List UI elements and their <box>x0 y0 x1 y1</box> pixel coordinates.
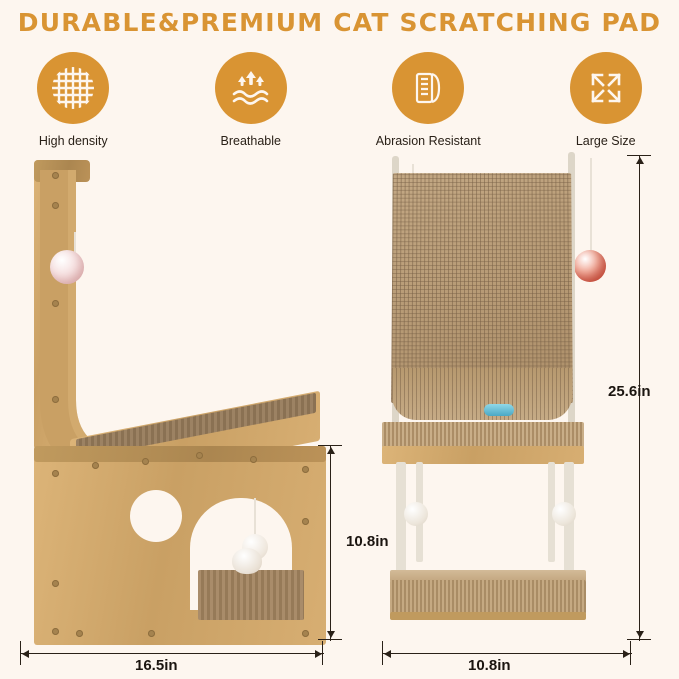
left-width-dimension-line <box>20 653 324 654</box>
right-pompom-left <box>404 502 428 526</box>
right-height-arrow-up <box>636 157 644 164</box>
large-size-arrows-icon <box>570 52 642 124</box>
left-round-entry-hole <box>130 490 182 542</box>
left-interior-floor-pad <box>198 570 304 620</box>
right-height-label: 25.6in <box>608 383 651 400</box>
screw <box>302 518 309 525</box>
left-toy-ball <box>50 250 84 284</box>
product-left-side-view <box>18 150 328 650</box>
right-pompom-right <box>552 502 576 526</box>
left-height-label: 10.8in <box>346 533 389 550</box>
screw <box>52 580 59 587</box>
screw <box>52 628 59 635</box>
screw <box>302 466 309 473</box>
right-ball-string-right <box>590 158 592 254</box>
right-width-tick-right <box>630 641 631 665</box>
left-width-label: 16.5in <box>135 657 178 674</box>
right-bottom-scratch-pad <box>390 580 586 614</box>
screw <box>302 630 309 637</box>
screw <box>76 630 83 637</box>
screw <box>52 202 59 209</box>
left-height-arrow-up <box>327 447 335 454</box>
right-toy-ball-right <box>574 250 606 282</box>
product-illustration-area: 10.8in 16.5in 25.6in 10.8in <box>0 145 679 679</box>
feature-item-breathable: Breathable <box>178 52 325 148</box>
right-width-arrow-right <box>623 650 630 658</box>
screw <box>196 452 203 459</box>
right-bottom-shelf-edge <box>390 612 586 620</box>
screw <box>52 172 59 179</box>
feature-item-high-density: High density <box>0 52 147 148</box>
right-small-blue-toy <box>484 404 514 416</box>
screw <box>52 300 59 307</box>
product-right-front-view <box>376 150 626 650</box>
screw <box>52 470 59 477</box>
left-cabinet-top-edge <box>34 446 326 462</box>
left-width-arrow-left <box>22 650 29 658</box>
screw <box>52 396 59 403</box>
grid-mesh-icon <box>37 52 109 124</box>
left-inner-ball-string <box>254 498 256 536</box>
feature-item-abrasion-resistant: Abrasion Resistant <box>355 52 502 148</box>
screw <box>142 458 149 465</box>
product-infographic: DURABLE&PREMIUM CAT SCRATCHING PAD High … <box>0 0 679 679</box>
left-width-tick-right <box>322 641 323 665</box>
feature-item-large-size: Large Size <box>533 52 679 148</box>
left-height-dimension-line <box>330 445 331 641</box>
feature-list: High density <box>0 52 679 148</box>
screw <box>92 462 99 469</box>
right-width-dimension-line <box>382 653 632 654</box>
left-width-arrow-right <box>315 650 322 658</box>
screw <box>148 630 155 637</box>
screw <box>250 456 257 463</box>
right-height-arrow-down <box>636 631 644 638</box>
page-title: DURABLE&PREMIUM CAT SCRATCHING PAD <box>0 8 679 37</box>
right-seat-corrugated-edge <box>382 422 584 448</box>
right-width-label: 10.8in <box>468 657 511 674</box>
breathable-waves-icon <box>215 52 287 124</box>
right-width-arrow-left <box>384 650 391 658</box>
left-inner-toy-ball-2 <box>232 548 262 574</box>
right-backrest-lower-curve <box>392 368 572 420</box>
left-height-arrow-down <box>327 631 335 638</box>
abrasion-roll-icon <box>392 52 464 124</box>
